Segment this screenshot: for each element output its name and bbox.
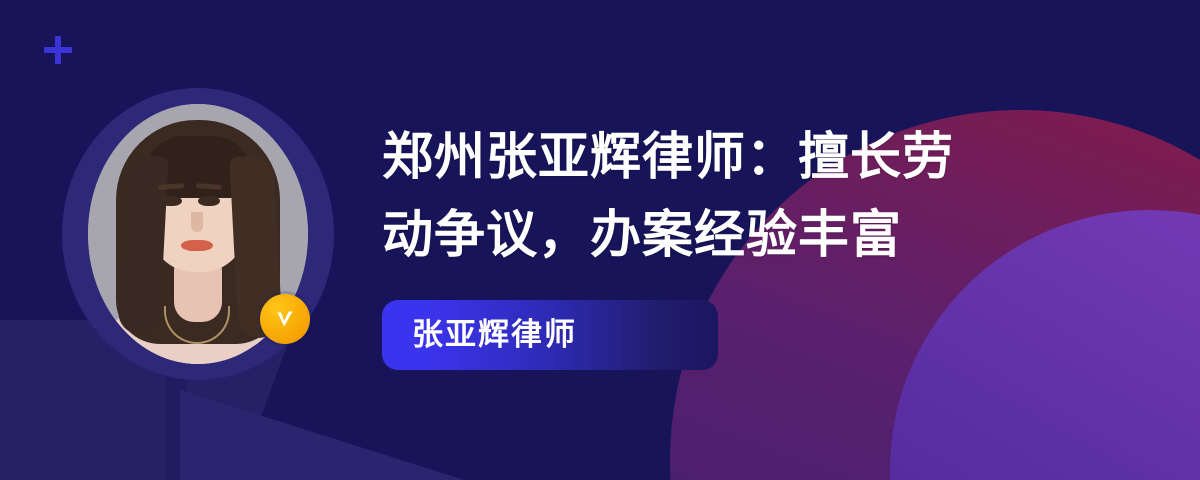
avatar [62, 88, 334, 390]
verified-check-icon [260, 294, 310, 344]
portrait-eye-right [198, 196, 220, 206]
page-title: 郑州张亚辉律师：擅长劳 动争议，办案经验丰富 [382, 118, 1082, 274]
portrait-nose [191, 212, 203, 232]
banner-content: 郑州张亚辉律师：擅长劳 动争议，办案经验丰富 张亚辉律师 [382, 118, 1082, 370]
portrait-eye-left [160, 196, 182, 206]
lawyer-profile-banner: 郑州张亚辉律师：擅长劳 动争议，办案经验丰富 张亚辉律师 [0, 0, 1200, 480]
portrait-lips [181, 240, 213, 251]
lawyer-name-pill[interactable]: 张亚辉律师 [382, 300, 718, 370]
plus-icon [42, 34, 74, 66]
background-triangle-band [180, 390, 480, 480]
